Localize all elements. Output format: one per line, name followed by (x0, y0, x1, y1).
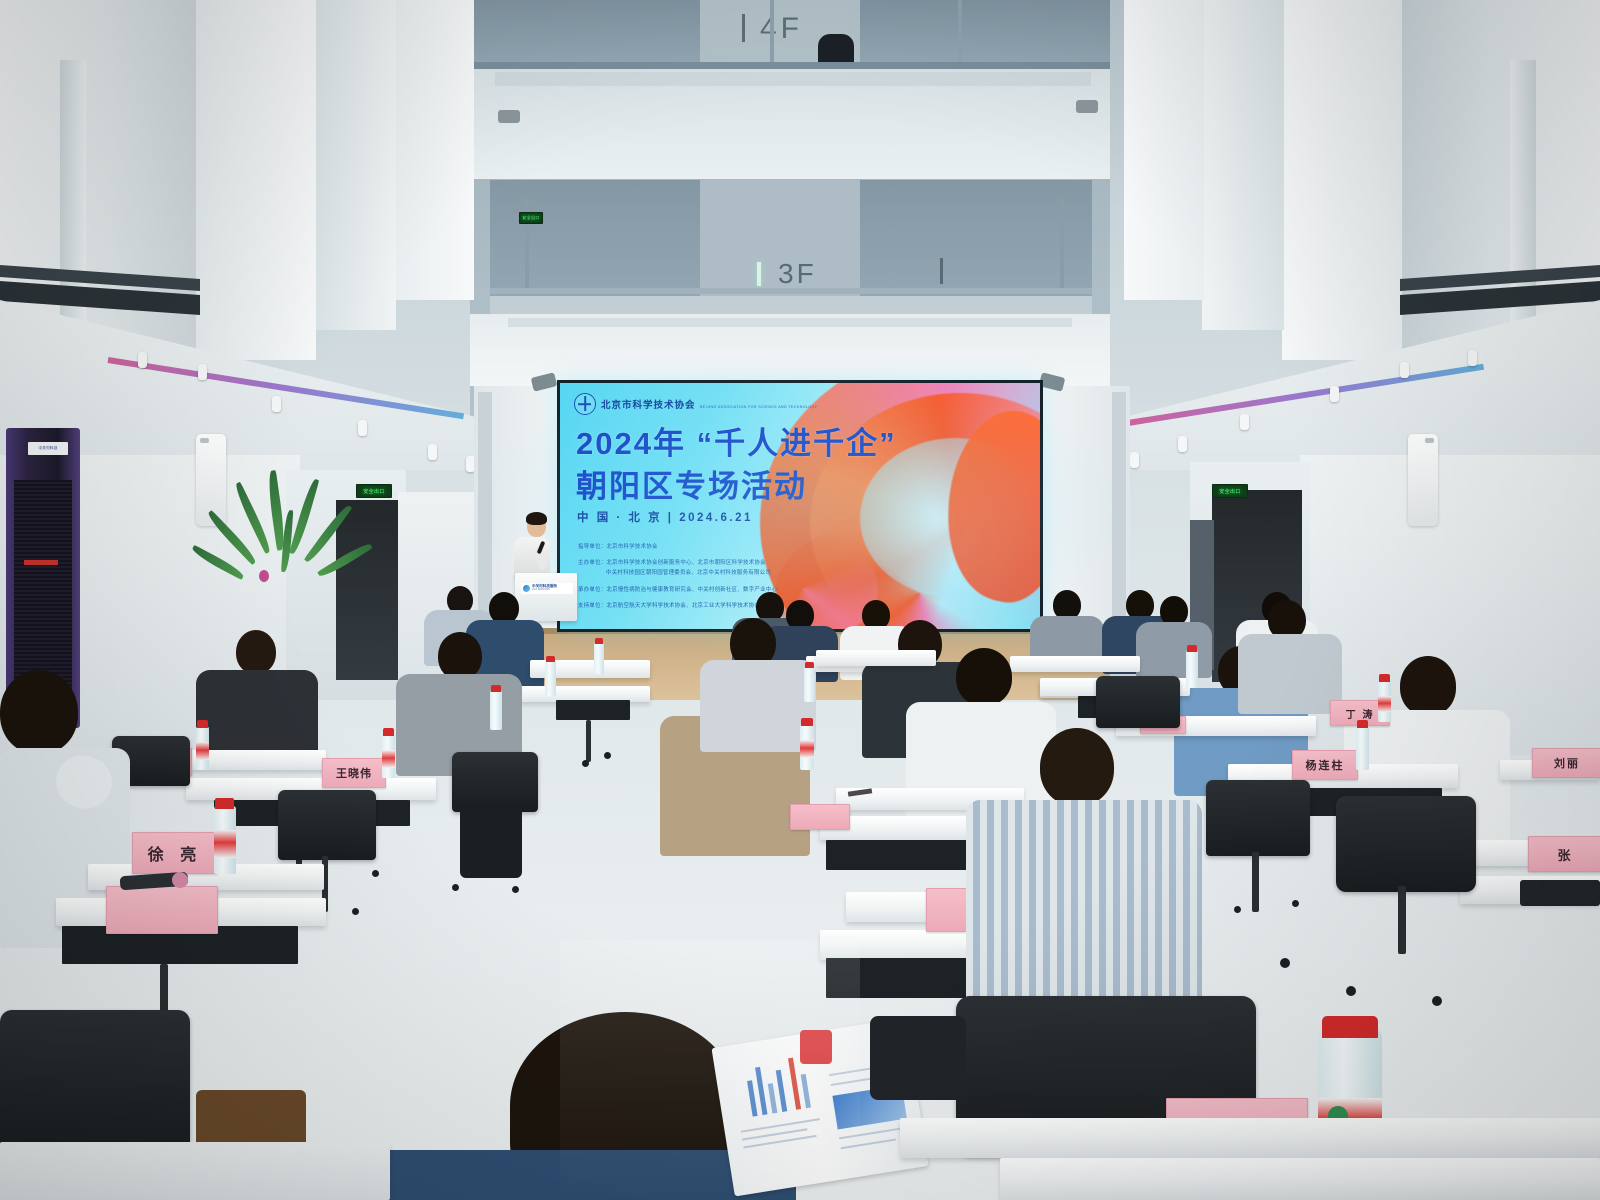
attendee-head (956, 648, 1012, 706)
water-bottle (1356, 726, 1369, 770)
wall-speaker-left-badge (200, 438, 209, 443)
left-pier-4 (396, 0, 474, 300)
caster (512, 886, 519, 893)
chair-foreground[interactable] (0, 1010, 190, 1160)
desk-leg (586, 720, 591, 762)
mullion-d (1060, 198, 1064, 288)
track-light-r1 (1130, 452, 1139, 468)
keychain-charm (172, 872, 188, 888)
caster (582, 760, 589, 767)
bottle-label (800, 740, 814, 758)
floor-marker-4f: 4F (760, 12, 803, 46)
bottle-cap (491, 685, 501, 692)
track-light-l4 (358, 420, 367, 436)
attendee-body (1238, 634, 1342, 714)
backpack (460, 806, 522, 878)
exit-sign-left: 安全出口 (356, 484, 392, 498)
bottle-cap (1187, 645, 1197, 652)
bottle-label (214, 830, 236, 858)
caster (604, 752, 611, 759)
glass-rail-4f (470, 62, 1110, 69)
water-bottle (804, 666, 815, 702)
led-org-logo: 北京市科学技术协会 BEIJING ASSOCIATION FOR SCIENC… (574, 393, 817, 415)
left-doorway (336, 500, 398, 680)
led-headline-line1: 2024年 “千人进千企” (576, 427, 897, 462)
attendee-head (236, 630, 276, 674)
chair-post (1398, 886, 1406, 954)
caster (1280, 958, 1290, 968)
plant-flower (259, 570, 269, 582)
rack-indicator (24, 560, 58, 565)
name-card: 徐 亮 (132, 832, 218, 874)
wall-speaker-right (1408, 434, 1438, 526)
caster (352, 908, 359, 915)
chair[interactable] (452, 752, 538, 812)
caster (1234, 906, 1241, 913)
chair-armrest (870, 1016, 966, 1100)
desk-center-back (816, 650, 936, 666)
wall-speaker-right-badge (1425, 438, 1434, 443)
presenter-hair (526, 512, 547, 525)
attendee-head (438, 632, 482, 680)
desk-back-left-modesty (556, 700, 630, 720)
mullion-a (770, 0, 774, 62)
chair[interactable] (1096, 676, 1180, 728)
podium (515, 573, 577, 621)
track-light-r3 (1240, 414, 1249, 430)
podium-logo: 中关村科技服务 ZGC SERVICES (521, 583, 573, 594)
rack-label: 中关村科技 (28, 442, 68, 455)
screen-wall-left-reveal (478, 392, 492, 632)
attendee-body-striped (966, 800, 1202, 1004)
led-credit-1: 指导单位：北京市科学技术协会 (578, 543, 658, 551)
desk-back-right (1010, 656, 1140, 672)
sign-light-3f (757, 262, 761, 286)
attendee-head-foreground (0, 670, 78, 754)
below-3f-shadow (508, 318, 1072, 327)
bottle-cap (1357, 720, 1368, 728)
right-pier-2 (1282, 0, 1402, 360)
attendee-head (1400, 656, 1456, 716)
caster (1432, 996, 1442, 1006)
floor-highlight (560, 940, 860, 1200)
chair[interactable] (1336, 796, 1476, 892)
name-card: 杨连柱 (1292, 750, 1358, 780)
bottle-label (196, 742, 209, 760)
security-camera-upper-left (498, 110, 520, 123)
track-light-r4 (1330, 386, 1339, 402)
led-credit-5: 支持单位：北京航空航天大学科学技术协会、北京工业大学科学技术协会 (578, 602, 760, 610)
attendee-head (1040, 728, 1114, 806)
sign-divider-3f (940, 258, 943, 284)
floor-marker-3f: 3F (778, 258, 817, 290)
screen-wall-right-reveal (1112, 392, 1126, 632)
chair[interactable] (278, 790, 376, 860)
attendee-body (700, 660, 816, 752)
desk-bottom-right (900, 1118, 1600, 1158)
caster (1292, 900, 1299, 907)
led-credit-4: 承办单位：北京慢性病防治与健康教育研究会、中关村创新社区、数字产业中心 (578, 586, 777, 594)
led-credit-3: 中关村科技园区朝阳园管理委员会、北京中关村科技服务有限公司 (606, 569, 771, 577)
interfloor-shadow (495, 72, 1091, 86)
bottle-label (1378, 696, 1391, 712)
name-card (790, 804, 850, 830)
left-pier-3 (316, 0, 396, 330)
water-bottle (545, 660, 556, 696)
led-subline: 中 国 · 北 京 | 2024.6.21 (577, 509, 753, 525)
conference-hall-photo: 4F 3F 安全出口 (0, 0, 1600, 1200)
laptop (1520, 880, 1600, 906)
name-card: 张 (1528, 836, 1600, 872)
water-bottle (490, 690, 502, 730)
bottle-cap (801, 718, 813, 726)
podium-logo-subtext: ZGC SERVICES (532, 589, 557, 592)
bottle-cap (595, 638, 603, 644)
attendee-body (1136, 622, 1212, 678)
chair[interactable] (1206, 780, 1310, 856)
potted-plant (225, 470, 345, 620)
bottle-cap (215, 798, 234, 809)
track-light-l3 (272, 396, 281, 412)
track-light-l1 (138, 352, 147, 368)
podium-logo-mark-icon (523, 585, 530, 592)
water-bottle (1186, 650, 1198, 688)
bottle-cap (805, 662, 814, 668)
bottle-cap (383, 728, 394, 736)
sign-divider-4f (742, 14, 745, 42)
bottle-label (382, 750, 395, 768)
glass-rail-3f (490, 288, 1092, 294)
name-card: 王晓伟 (322, 758, 386, 788)
bottle-cap-foreground (1322, 1016, 1378, 1038)
track-light-l2 (198, 364, 207, 380)
security-camera-upper-right (1076, 100, 1098, 113)
left-pier-2 (196, 0, 316, 360)
name-card: 刘丽 (1532, 748, 1600, 778)
exit-sign-right: 安全出口 (1212, 484, 1248, 498)
caster (452, 884, 459, 891)
caster (1346, 986, 1356, 996)
track-light-r5 (1400, 362, 1409, 378)
desk-bottom-left (0, 1142, 390, 1200)
podium-logo-text: 中关村科技服务 ZGC SERVICES (532, 585, 557, 592)
chair-post (1252, 852, 1259, 912)
track-light-r2 (1178, 436, 1187, 452)
track-light-l5 (428, 444, 437, 460)
exit-sign-upper: 安全出口 (519, 212, 543, 224)
mullion-b (958, 0, 962, 62)
water-bottle (594, 642, 604, 674)
desk-bottom-right-2 (1000, 1158, 1600, 1200)
rack-mesh (14, 480, 72, 690)
led-headline-line2: 朝阳区专场活动 (576, 461, 807, 506)
bottle-cap (546, 656, 555, 662)
led-credit-2: 主办单位：北京市科学技术协会创新服务中心、北京市朝阳区科学技术协会 (578, 559, 766, 567)
track-light-r6 (1468, 350, 1477, 366)
balcony-edge-3f (490, 296, 1092, 314)
led-org-logo-cn: 北京市科学技术协会 (601, 400, 696, 411)
led-org-logo-en: BEIJING ASSOCIATION FOR SCIENCE AND TECH… (700, 405, 818, 409)
caster (372, 870, 379, 877)
led-stage-screen: 北京市科学技术协会 BEIJING ASSOCIATION FOR SCIENC… (560, 383, 1040, 629)
seal-icon (574, 393, 596, 415)
bottle-cap (197, 720, 208, 728)
name-card (106, 886, 218, 934)
right-pier-3 (1202, 0, 1284, 330)
bottle-cap (1379, 674, 1390, 682)
right-pier-4 (1124, 0, 1204, 300)
